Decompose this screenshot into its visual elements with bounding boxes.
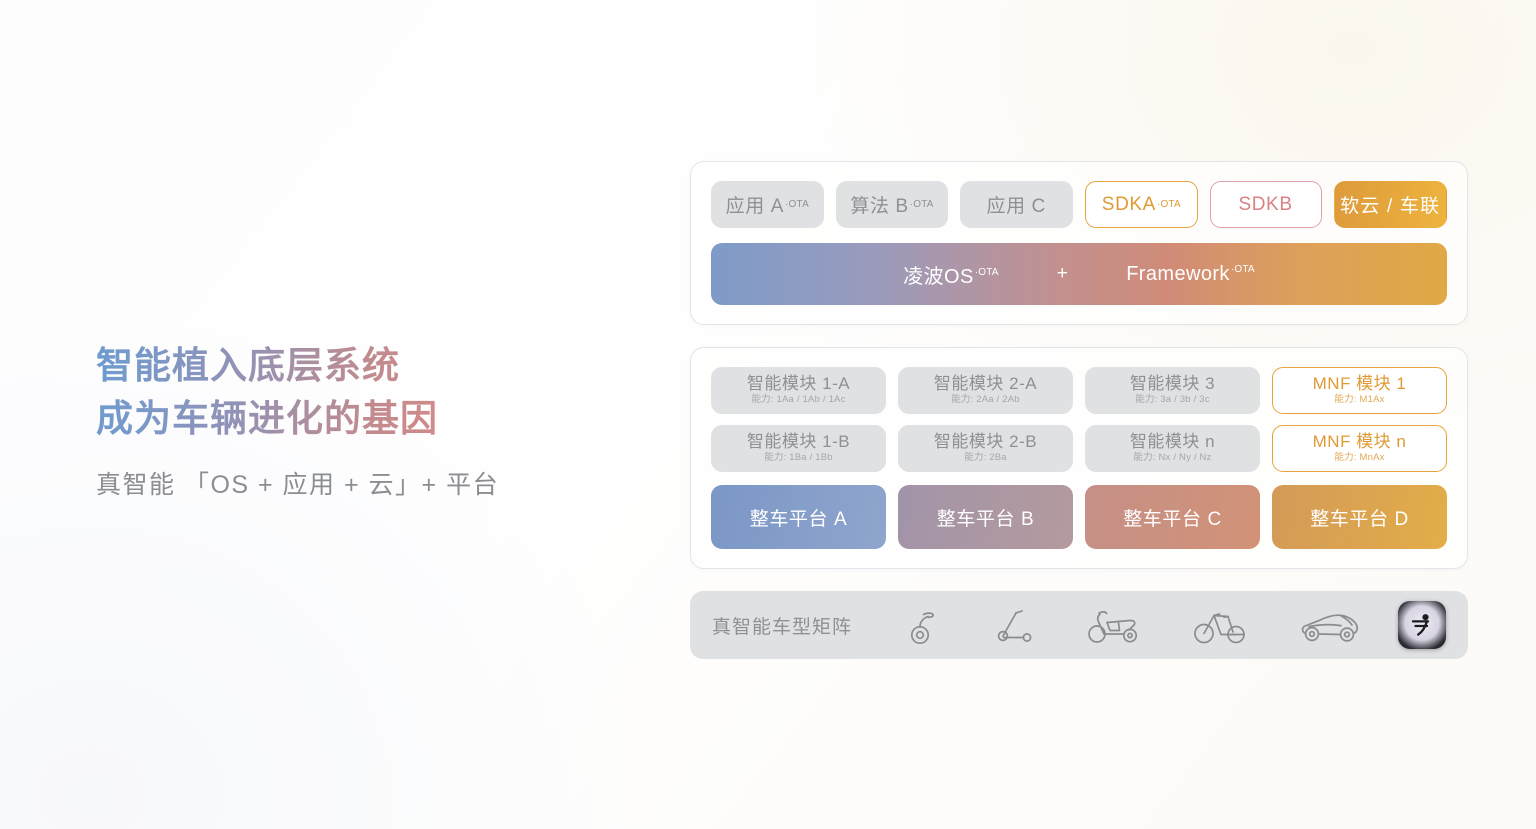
os-name-label: 凌波OS <box>903 266 974 288</box>
module-card-2a[interactable]: 智能模块 2-A 能力: 2Aa / 2Ab <box>898 367 1073 414</box>
application-layer-panel: 应用 A·OTA 算法 B·OTA 应用 C SDKA·OTA SDKB 软云 … <box>690 161 1468 325</box>
module-card-1b-capability: 能力: 1Ba / 1Bb <box>764 453 833 463</box>
vehicle-platform-row: 整车平台 A 整车平台 B 整车平台 C 整车平台 D <box>711 485 1447 549</box>
headline-block: 智能植入底层系统 成为车辆进化的基因 真智能 「OS + 应用 + 云」+ 平台 <box>96 340 616 501</box>
segway-ninebot-logo <box>1398 601 1446 649</box>
module-card-mnf-1-title: MNF 模块 1 <box>1313 375 1407 394</box>
module-card-3-title: 智能模块 3 <box>1130 375 1215 394</box>
application-chip-row: 应用 A·OTA 算法 B·OTA 应用 C SDKA·OTA SDKB 软云 … <box>711 181 1447 228</box>
framework-name-ota: ·OTA <box>1231 264 1255 275</box>
chip-app-c-label: 应用 C <box>986 191 1045 218</box>
vehicle-matrix-label: 真智能车型矩阵 <box>712 612 852 639</box>
chip-app-a[interactable]: 应用 A·OTA <box>711 181 824 228</box>
module-card-mnf-1[interactable]: MNF 模块 1 能力: M1Ax <box>1272 367 1447 414</box>
chip-sdkb[interactable]: SDKB <box>1210 181 1323 228</box>
page-title: 智能植入底层系统 成为车辆进化的基因 <box>96 340 616 445</box>
module-card-1a-title: 智能模块 1-A <box>747 375 850 394</box>
chip-sdkb-label: SDKB <box>1238 194 1292 216</box>
platform-card-a[interactable]: 整车平台 A <box>711 485 886 549</box>
module-row-2: 智能模块 1-B 能力: 1Ba / 1Bb 智能模块 2-B 能力: 2Ba … <box>711 425 1447 472</box>
module-card-3[interactable]: 智能模块 3 能力: 3a / 3b / 3c <box>1085 367 1260 414</box>
go-kart-icon <box>1297 604 1361 646</box>
chip-sdka-ota: ·OTA <box>1157 199 1181 210</box>
module-card-mnf-1-capability: 能力: M1Ax <box>1334 395 1384 405</box>
kick-scooter-icon <box>992 604 1036 646</box>
os-name-ota: ·OTA <box>975 267 999 278</box>
module-card-2a-capability: 能力: 2Aa / 2Ab <box>951 395 1020 405</box>
module-layer-panel: 智能模块 1-A 能力: 1Aa / 1Ab / 1Ac 智能模块 2-A 能力… <box>690 347 1468 569</box>
framework-name: Framework·OTA <box>1126 263 1255 286</box>
chip-algo-b[interactable]: 算法 B·OTA <box>836 181 949 228</box>
platform-card-b[interactable]: 整车平台 B <box>898 485 1073 549</box>
chip-algo-b-label: 算法 B <box>850 191 908 218</box>
chip-sdka[interactable]: SDKA·OTA <box>1085 181 1198 228</box>
platform-card-c[interactable]: 整车平台 C <box>1085 485 1260 549</box>
chip-cloud-connectivity[interactable]: 软云 / 车联 <box>1334 181 1447 228</box>
chip-sdka-label: SDKA <box>1102 194 1156 216</box>
module-card-1b[interactable]: 智能模块 1-B 能力: 1Ba / 1Bb <box>711 425 886 472</box>
module-card-3-capability: 能力: 3a / 3b / 3c <box>1135 395 1209 405</box>
chip-cloud-connectivity-label: 软云 / 车联 <box>1340 191 1440 218</box>
bicycle-icon <box>1192 604 1248 646</box>
headline-line-1: 智能植入底层系统 <box>96 340 616 393</box>
os-plus-sign: + <box>1057 263 1069 285</box>
moped-scooter-icon <box>1085 604 1143 646</box>
module-card-1a-capability: 能力: 1Aa / 1Ab / 1Ac <box>751 395 845 405</box>
module-card-n-capability: 能力: Nx / Ny / Nz <box>1133 453 1211 463</box>
module-card-mnf-n-capability: 能力: MnAx <box>1334 453 1384 463</box>
platform-card-d[interactable]: 整车平台 D <box>1272 485 1447 549</box>
module-row-1: 智能模块 1-A 能力: 1Aa / 1Ab / 1Ac 智能模块 2-A 能力… <box>711 367 1447 414</box>
architecture-diagram: 应用 A·OTA 算法 B·OTA 应用 C SDKA·OTA SDKB 软云 … <box>690 161 1468 659</box>
module-card-mnf-n-title: MNF 模块 n <box>1313 433 1407 452</box>
module-card-mnf-n[interactable]: MNF 模块 n 能力: MnAx <box>1272 425 1447 472</box>
framework-name-label: Framework <box>1126 263 1230 285</box>
module-card-2b[interactable]: 智能模块 2-B 能力: 2Ba <box>898 425 1073 472</box>
module-card-2b-title: 智能模块 2-B <box>934 433 1037 452</box>
module-card-2a-title: 智能模块 2-A <box>934 375 1037 394</box>
os-framework-bar[interactable]: 凌波OS·OTA + Framework·OTA <box>711 243 1447 305</box>
module-card-n-title: 智能模块 n <box>1130 433 1215 452</box>
os-name: 凌波OS·OTA <box>903 260 998 289</box>
unicycle-icon <box>903 604 943 646</box>
module-card-n[interactable]: 智能模块 n 能力: Nx / Ny / Nz <box>1085 425 1260 472</box>
chip-app-c[interactable]: 应用 C <box>960 181 1073 228</box>
module-card-1a[interactable]: 智能模块 1-A 能力: 1Aa / 1Ab / 1Ac <box>711 367 886 414</box>
headline-line-2: 成为车辆进化的基因 <box>96 393 616 446</box>
chip-algo-b-ota: ·OTA <box>910 199 934 210</box>
module-card-1b-title: 智能模块 1-B <box>747 433 850 452</box>
module-card-2b-capability: 能力: 2Ba <box>964 453 1007 463</box>
chip-app-a-ota: ·OTA <box>785 199 809 210</box>
page-subtitle: 真智能 「OS + 应用 + 云」+ 平台 <box>96 465 616 501</box>
vehicle-matrix-panel: 真智能车型矩阵 <box>690 591 1468 659</box>
vehicle-icon-strip <box>878 604 1386 646</box>
chip-app-a-label: 应用 A <box>726 191 784 218</box>
